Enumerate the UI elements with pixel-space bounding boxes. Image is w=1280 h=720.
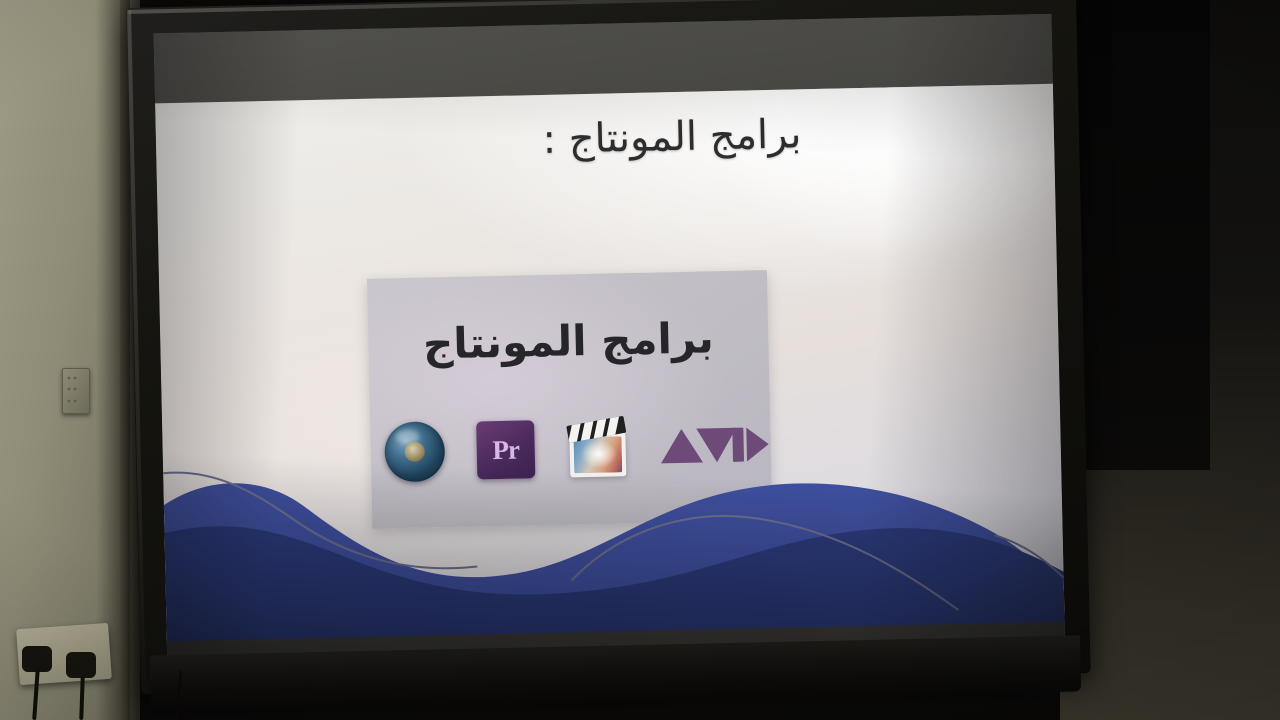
switch-screws-icon <box>66 374 78 406</box>
wall-mounted-display[interactable]: BenQ برامج المونتاج : برامج المونتاج Pr <box>126 0 1091 708</box>
slide-heading: برامج المونتاج : <box>441 109 902 165</box>
display-screen[interactable]: برامج المونتاج : برامج المونتاج Pr <box>154 14 1065 657</box>
presentation-slide: برامج المونتاج : برامج المونتاج Pr <box>155 84 1065 643</box>
photo-scene: BenQ برامج المونتاج : برامج المونتاج Pr <box>0 0 1280 720</box>
slide-wave-decoration <box>162 394 1065 644</box>
picture-title: برامج المونتاج <box>368 312 769 370</box>
power-plug[interactable] <box>66 652 96 678</box>
